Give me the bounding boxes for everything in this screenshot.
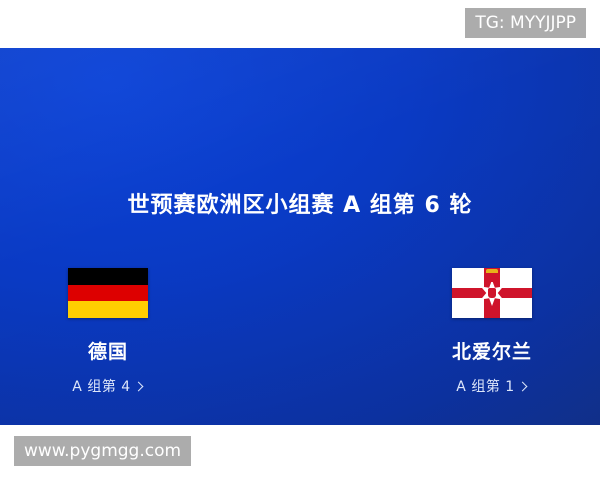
flag-band-black: [68, 268, 148, 285]
northern-ireland-flag-icon: [452, 268, 532, 318]
team-home-name: 德国: [88, 340, 128, 364]
team-away[interactable]: 北爱尔兰 A 组第 1: [392, 268, 592, 396]
match-title: 世预赛欧洲区小组赛 A 组第 6 轮: [0, 191, 600, 221]
site-watermark: www.pygmgg.com: [14, 436, 191, 466]
telegram-watermark: TG: MYYJJPP: [465, 8, 586, 38]
team-away-rank-label: A 组第 1: [456, 378, 514, 396]
flag-band-red: [68, 285, 148, 302]
team-home[interactable]: 德国 A 组第 4: [8, 268, 208, 396]
screen-root: 世预赛欧洲区小组赛 A 组第 6 轮 德国 A 组第 4: [0, 0, 600, 480]
germany-flag-icon: [68, 268, 148, 318]
team-home-rank[interactable]: A 组第 4: [72, 378, 143, 396]
match-card[interactable]: 世预赛欧洲区小组赛 A 组第 6 轮 德国 A 组第 4: [0, 48, 600, 425]
chevron-right-icon[interactable]: [134, 382, 144, 392]
team-home-rank-label: A 组第 4: [72, 378, 130, 396]
chevron-right-icon[interactable]: [518, 382, 528, 392]
flag-band-gold: [68, 301, 148, 318]
team-away-rank[interactable]: A 组第 1: [456, 378, 527, 396]
teams-row: 德国 A 组第 4 北爱尔兰 A 组第 1: [0, 268, 600, 425]
flag-red-hand-icon: [488, 288, 496, 298]
team-away-name: 北爱尔兰: [452, 340, 532, 364]
flag-crown-icon: [485, 272, 499, 282]
